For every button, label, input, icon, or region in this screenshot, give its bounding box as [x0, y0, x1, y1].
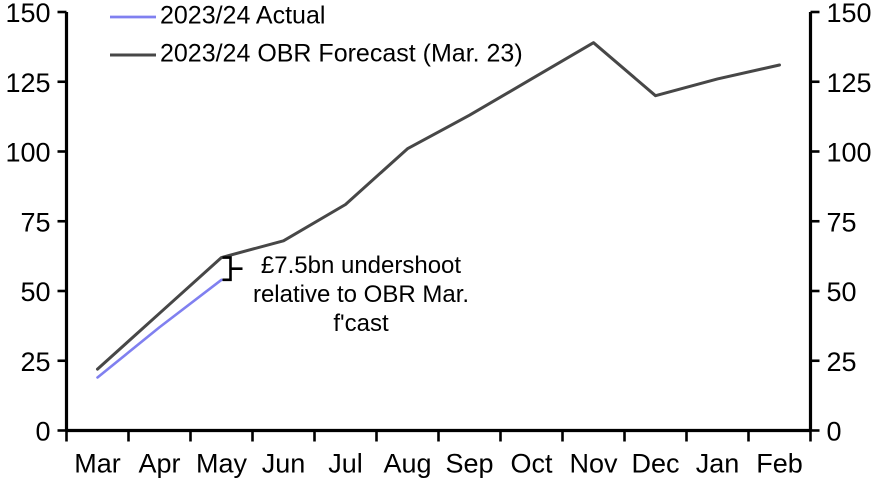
right-axis-tick-labels: 0255075100125150: [827, 0, 872, 447]
left-axis-tick-labels: 0255075100125150: [5, 0, 50, 447]
x-axis-category-labels: MarAprMayJunJulAugSepOctNovDecJanFeb: [74, 449, 803, 479]
x-axis-category-label: Feb: [756, 449, 803, 479]
series-line-obr-forecast: [98, 43, 780, 369]
x-axis-category-label: Dec: [631, 449, 679, 479]
legend-label: 2023/24 OBR Forecast (Mar. 23): [160, 40, 523, 68]
legend-label: 2023/24 Actual: [160, 2, 325, 30]
right-axis-tick-label: 25: [827, 347, 857, 377]
left-axis-tick-label: 100: [5, 138, 50, 168]
x-axis-category-label: Sep: [445, 449, 493, 479]
right-axis-tick-label: 125: [827, 68, 872, 98]
annotation-line-3: f'cast: [333, 310, 389, 337]
x-axis-category-label: Jun: [262, 449, 306, 479]
x-axis-category-label: May: [196, 449, 248, 479]
annotation-line-1: £7.5bn undershoot: [261, 252, 462, 279]
chart-legend: 2023/24 Actual2023/24 OBR Forecast (Mar.…: [110, 2, 523, 68]
right-axis-tick-label: 0: [827, 417, 842, 447]
x-axis-category-label: Nov: [569, 449, 618, 479]
undershoot-annotation: £7.5bn undershoot relative to OBR Mar. f…: [223, 252, 470, 337]
right-axis-tick-label: 50: [827, 277, 857, 307]
undershoot-bracket-icon: [223, 258, 243, 280]
bottom-axis-ticks: [67, 431, 811, 442]
series-line-actual: [98, 280, 222, 378]
left-axis-tick-label: 150: [5, 0, 50, 28]
right-axis-tick-label: 150: [827, 0, 872, 28]
left-axis-tick-label: 0: [35, 417, 50, 447]
x-axis-category-label: Oct: [510, 449, 553, 479]
x-axis-category-label: Mar: [74, 449, 121, 479]
left-axis-tick-label: 125: [5, 68, 50, 98]
x-axis-category-label: Jan: [696, 449, 740, 479]
legend-item[interactable]: 2023/24 OBR Forecast (Mar. 23): [110, 40, 523, 68]
left-axis-tick-label: 75: [20, 207, 50, 237]
x-axis-category-label: Jul: [328, 449, 363, 479]
line-chart: 0255075100125150 0255075100125150 MarApr…: [0, 0, 873, 485]
series-layer: [98, 43, 780, 378]
left-axis-tick-label: 50: [20, 277, 50, 307]
annotation-line-2: relative to OBR Mar.: [253, 281, 469, 308]
x-axis-category-label: Aug: [383, 449, 431, 479]
x-axis-category-label: Apr: [138, 449, 180, 479]
left-axis-tick-label: 25: [20, 347, 50, 377]
right-axis-tick-label: 100: [827, 138, 872, 168]
right-axis-tick-label: 75: [827, 207, 857, 237]
chart-canvas: 0255075100125150 0255075100125150 MarApr…: [0, 0, 873, 485]
legend-item[interactable]: 2023/24 Actual: [110, 2, 325, 30]
